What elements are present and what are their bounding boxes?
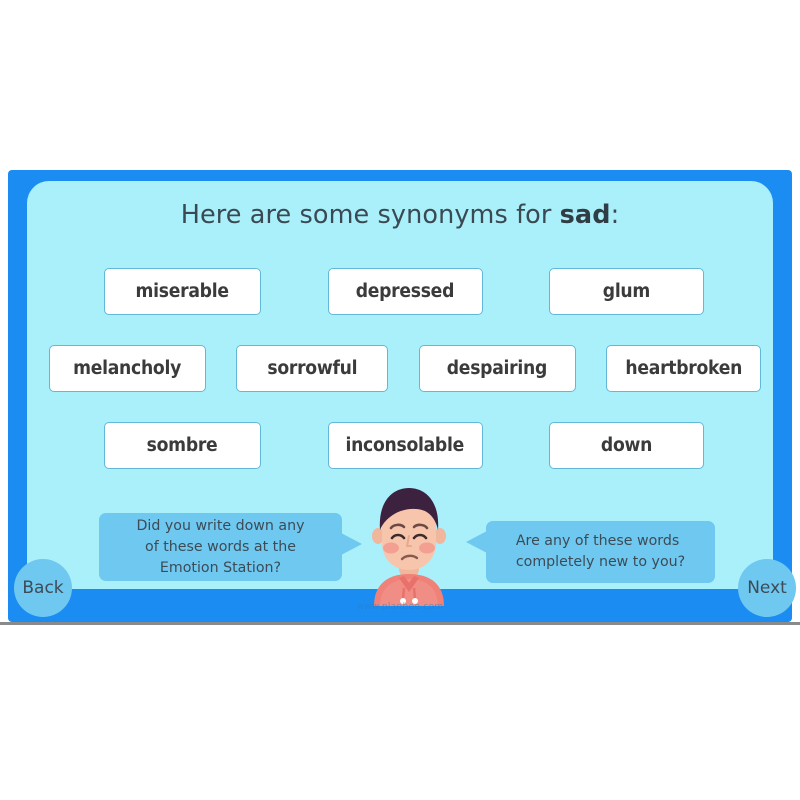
word-row-2: melancholy sorrowful despairing heartbro… — [49, 345, 761, 392]
speech-bubble-left: Did you write down any of these words at… — [99, 513, 342, 581]
slide-panel: Here are some synonyms for sad: miserabl… — [27, 181, 773, 589]
word-card-label: melancholy — [74, 358, 182, 379]
word-card-label: sorrowful — [267, 358, 357, 379]
word-card-label: miserable — [136, 281, 229, 302]
word-card[interactable]: miserable — [104, 268, 261, 315]
speech-bubble-right-text: Are any of these words completely new to… — [504, 531, 697, 573]
next-button-label: Next — [747, 578, 787, 598]
word-card[interactable]: despairing — [419, 345, 576, 392]
page-title: Here are some synonyms for sad: — [27, 200, 773, 230]
word-row-1: miserable depressed glum — [104, 268, 704, 315]
slide-bottom-divider — [0, 622, 800, 625]
word-card-label: down — [601, 435, 652, 456]
word-card[interactable]: glum — [549, 268, 704, 315]
slide-frame: Here are some synonyms for sad: miserabl… — [8, 170, 792, 622]
word-card[interactable]: down — [549, 422, 704, 469]
watermark: www.planbee.com — [8, 602, 792, 612]
word-card-label: glum — [603, 281, 650, 302]
sad-boy-illustration — [344, 484, 474, 606]
page-title-keyword: sad — [560, 200, 611, 230]
word-card-label: despairing — [447, 358, 547, 379]
word-card[interactable]: inconsolable — [328, 422, 483, 469]
word-row-3: sombre inconsolable down — [104, 422, 704, 469]
word-card-label: heartbroken — [625, 358, 742, 379]
page-title-prefix: Here are some synonyms for — [181, 200, 560, 230]
word-card[interactable]: melancholy — [49, 345, 206, 392]
word-card[interactable]: sorrowful — [236, 345, 388, 392]
word-card-label: depressed — [356, 281, 454, 302]
word-card[interactable]: sombre — [104, 422, 261, 469]
back-button-label: Back — [22, 578, 63, 598]
speech-bubble-left-text: Did you write down any of these words at… — [124, 516, 316, 579]
word-card[interactable]: heartbroken — [606, 345, 761, 392]
speech-bubble-right: Are any of these words completely new to… — [486, 521, 715, 583]
word-card-label: sombre — [147, 435, 218, 456]
page-title-suffix: : — [611, 200, 620, 230]
word-card[interactable]: depressed — [328, 268, 483, 315]
word-card-label: inconsolable — [346, 435, 465, 456]
